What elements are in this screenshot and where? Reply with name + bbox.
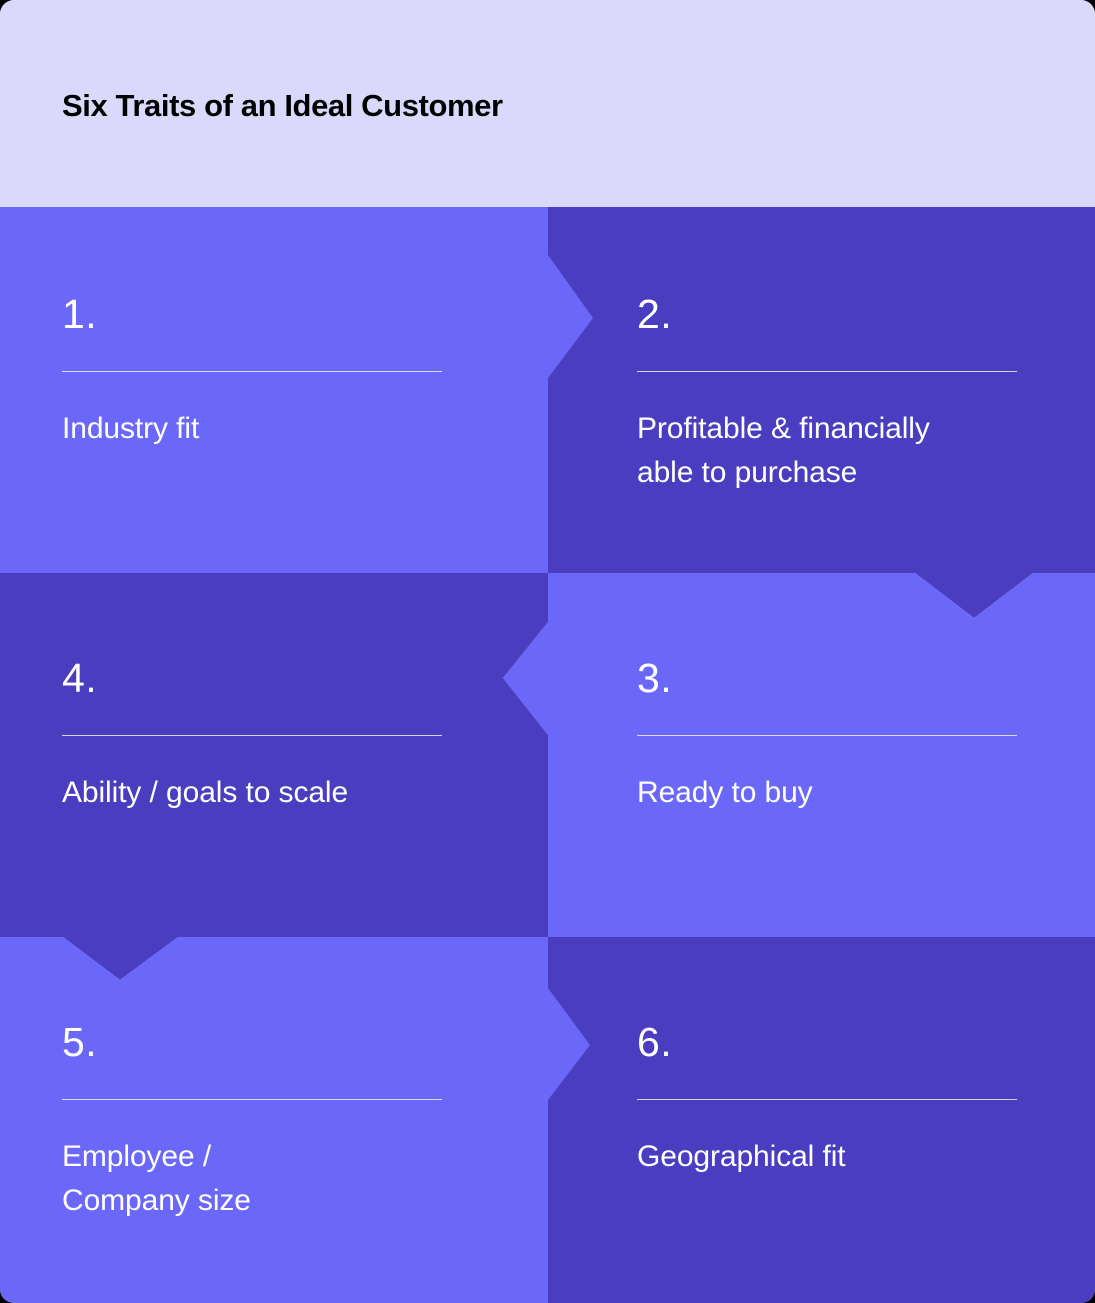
cell-1-number: 1. bbox=[62, 291, 442, 337]
cell-4-label: Ability / goals to scale bbox=[62, 771, 442, 815]
cell-5-label: Employee / Company size bbox=[62, 1135, 442, 1223]
cell-6-number: 6. bbox=[637, 1019, 1017, 1065]
cell-3-label: Ready to buy bbox=[637, 771, 1017, 815]
cell-3-number: 3. bbox=[637, 655, 1017, 701]
cell-4-divider bbox=[62, 735, 442, 736]
cell-2-number: 2. bbox=[637, 291, 1017, 337]
infographic-card: Six Traits of an Ideal Customer 1. Indus… bbox=[0, 0, 1095, 1303]
cell-3-divider bbox=[637, 735, 1017, 736]
cell-6[interactable]: 6. Geographical fit bbox=[637, 1019, 1017, 1179]
cell-2-divider bbox=[637, 371, 1017, 372]
cell-1-label: Industry fit bbox=[62, 407, 442, 451]
cell-4-number: 4. bbox=[62, 655, 442, 701]
cell-6-divider bbox=[637, 1099, 1017, 1100]
cell-5-divider bbox=[62, 1099, 442, 1100]
cell-5[interactable]: 5. Employee / Company size bbox=[62, 1019, 442, 1223]
cell-4[interactable]: 4. Ability / goals to scale bbox=[62, 655, 442, 815]
cell-1[interactable]: 1. Industry fit bbox=[62, 291, 442, 451]
cell-1-divider bbox=[62, 371, 442, 372]
cell-3[interactable]: 3. Ready to buy bbox=[637, 655, 1017, 815]
cell-5-number: 5. bbox=[62, 1019, 442, 1065]
cell-2-label: Profitable & financially able to purchas… bbox=[637, 407, 1017, 495]
cell-2[interactable]: 2. Profitable & financially able to purc… bbox=[637, 291, 1017, 495]
cell-6-label: Geographical fit bbox=[637, 1135, 1017, 1179]
